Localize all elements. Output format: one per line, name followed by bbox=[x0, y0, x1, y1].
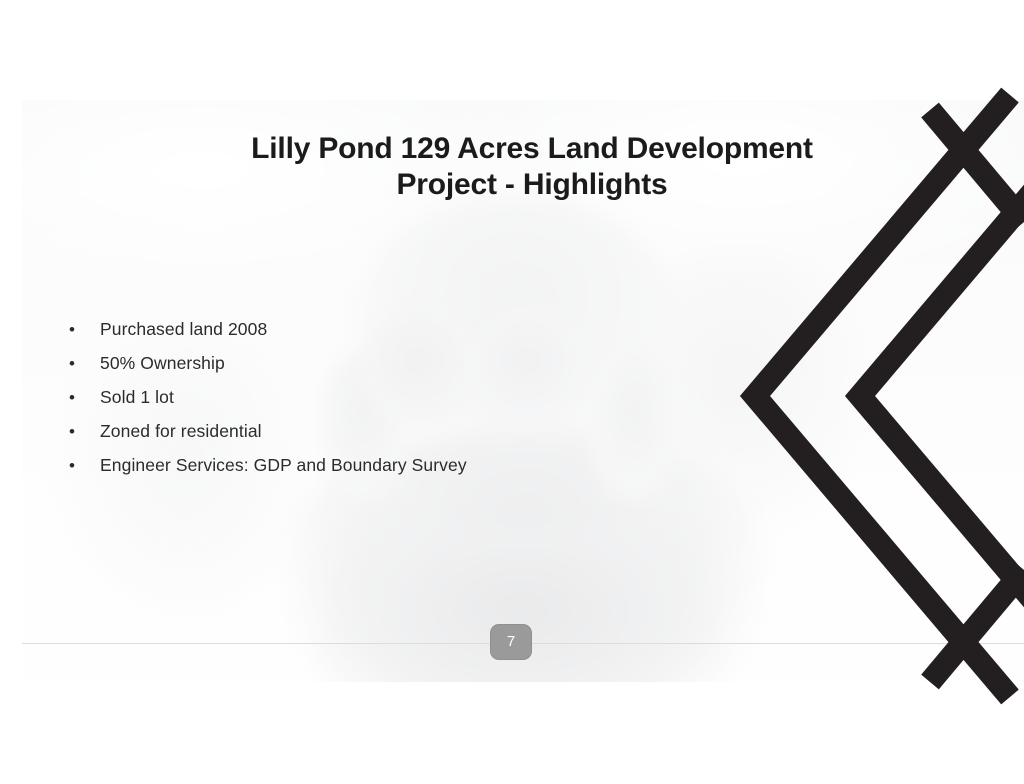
slide-title-line-1: Lilly Pond 129 Acres Land Development bbox=[172, 134, 892, 164]
bullet-list: • Purchased land 2008 • 50% Ownership • … bbox=[66, 312, 686, 482]
bullet-dot-icon: • bbox=[66, 449, 100, 483]
list-item-label: Zoned for residential bbox=[100, 414, 262, 448]
list-item-label: Engineer Services: GDP and Boundary Surv… bbox=[100, 448, 467, 482]
slide-title: Lilly Pond 129 Acres Land Development Pr… bbox=[172, 134, 892, 200]
bullet-dot-icon: • bbox=[66, 415, 100, 449]
list-item-label: Purchased land 2008 bbox=[100, 312, 267, 346]
presentation-slide: Lilly Pond 129 Acres Land Development Pr… bbox=[22, 100, 1024, 682]
bullet-dot-icon: • bbox=[66, 381, 100, 415]
page-canvas: Lilly Pond 129 Acres Land Development Pr… bbox=[0, 0, 1024, 784]
slide-title-line-2: Project - Highlights bbox=[172, 170, 892, 200]
list-item: • 50% Ownership bbox=[66, 346, 686, 380]
list-item: • Zoned for residential bbox=[66, 414, 686, 448]
list-item: • Engineer Services: GDP and Boundary Su… bbox=[66, 448, 686, 482]
list-item: • Purchased land 2008 bbox=[66, 312, 686, 346]
list-item: • Sold 1 lot bbox=[66, 380, 686, 414]
bullet-dot-icon: • bbox=[66, 347, 100, 381]
list-item-label: 50% Ownership bbox=[100, 346, 225, 380]
page-number-badge: 7 bbox=[491, 625, 531, 659]
list-item-label: Sold 1 lot bbox=[100, 380, 174, 414]
bullet-dot-icon: • bbox=[66, 313, 100, 347]
